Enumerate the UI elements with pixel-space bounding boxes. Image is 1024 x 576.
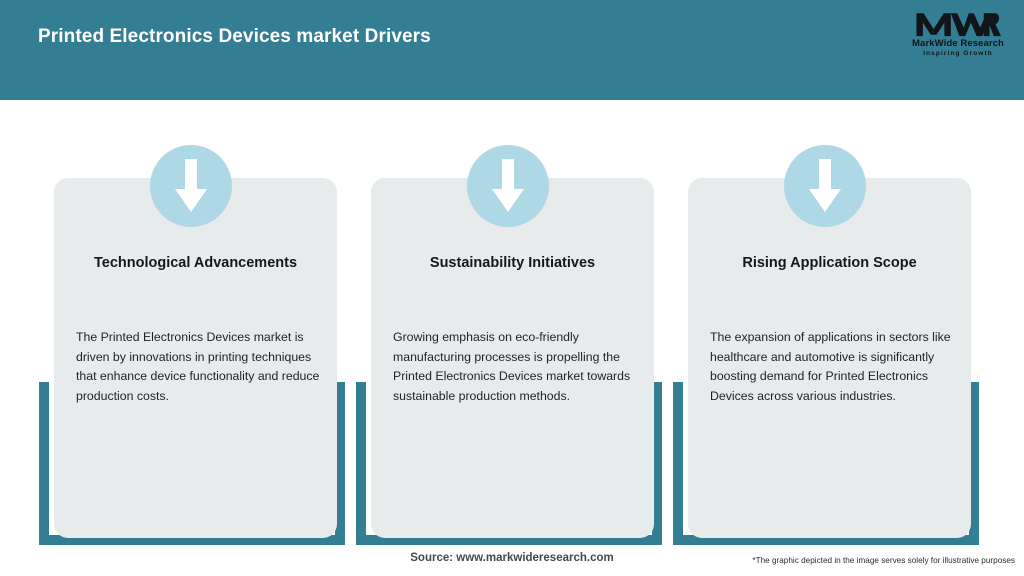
card-heading: Sustainability Initiatives [381, 254, 644, 273]
logo-company-name: MarkWide Research [906, 38, 1010, 49]
card-heading: Rising Application Scope [698, 254, 961, 273]
down-arrow-icon [173, 159, 209, 214]
card-frame-left-bar [673, 382, 683, 545]
page-title: Printed Electronics Devices market Drive… [38, 26, 431, 48]
driver-cards-container: Technological Advancements The Printed E… [0, 100, 1024, 540]
down-arrow-icon [807, 159, 843, 214]
card-icon-badge [784, 145, 866, 227]
card-icon-badge [150, 145, 232, 227]
card-frame-left-bar [39, 382, 49, 545]
card-panel: Rising Application Scope The expansion o… [688, 178, 971, 538]
driver-card-3: Rising Application Scope The expansion o… [673, 100, 990, 540]
header-bar: Printed Electronics Devices market Drive… [0, 0, 1024, 100]
disclaimer-label: *The graphic depicted in the image serve… [752, 556, 1015, 565]
card-icon-badge [467, 145, 549, 227]
down-arrow-icon [490, 159, 526, 214]
driver-card-1: Technological Advancements The Printed E… [39, 100, 356, 540]
card-body-text: Growing emphasis on eco-friendly manufac… [393, 328, 641, 406]
card-body-text: The expansion of applications in sectors… [710, 328, 958, 406]
card-heading: Technological Advancements [64, 254, 327, 273]
mwr-logo-icon [915, 10, 1001, 38]
card-panel: Technological Advancements The Printed E… [54, 178, 337, 538]
card-panel: Sustainability Initiatives Growing empha… [371, 178, 654, 538]
brand-logo: MarkWide Research Inspiring Growth [906, 10, 1010, 62]
card-frame-left-bar [356, 382, 366, 545]
logo-tagline: Inspiring Growth [906, 49, 1010, 58]
card-body-text: The Printed Electronics Devices market i… [76, 328, 324, 406]
driver-card-2: Sustainability Initiatives Growing empha… [356, 100, 673, 540]
